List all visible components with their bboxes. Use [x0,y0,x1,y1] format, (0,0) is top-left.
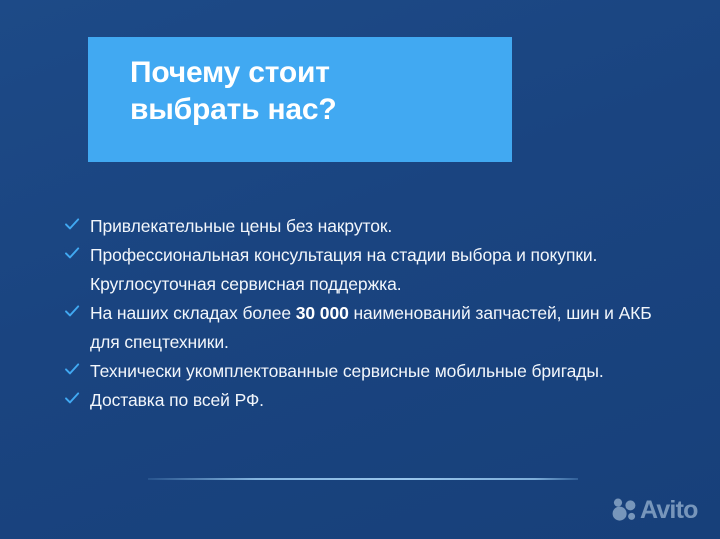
check-icon [64,390,80,406]
check-icon [64,245,80,261]
list-item-label: Привлекательные цены без накруток. [90,212,674,241]
slide-canvas: Почему стоит выбрать нас? Привлекательны… [0,0,720,539]
divider-line [148,478,578,480]
list-item: На наших складах более 30 000 наименован… [64,299,674,357]
list-item: Привлекательные цены без накруток. [64,212,674,241]
list-item-label: На наших складах более 30 000 наименован… [90,299,674,357]
list-item: Доставка по всей РФ. [64,386,674,415]
avito-dots-icon [612,498,638,522]
avito-watermark: Avito [612,494,712,526]
avito-wordmark: Avito [640,498,698,523]
list-item-highlight-count: 30 000 [296,303,349,323]
list-item: Технически укомплектованные сервисные мо… [64,357,674,386]
page-title: Почему стоит выбрать нас? [130,54,337,128]
list-item-label: Доставка по всей РФ. [90,386,674,415]
check-icon [64,361,80,377]
benefits-list: Привлекательные цены без накруток. Профе… [64,212,674,415]
list-item-label: Технически укомплектованные сервисные мо… [90,357,674,386]
list-item-label: Профессиональная консультация на стадии … [90,241,674,299]
check-icon [64,303,80,319]
check-icon [64,216,80,232]
list-item: Профессиональная консультация на стадии … [64,241,674,299]
title-banner: Почему стоит выбрать нас? [88,37,512,162]
list-item-text-pre: На наших складах более [90,303,296,323]
